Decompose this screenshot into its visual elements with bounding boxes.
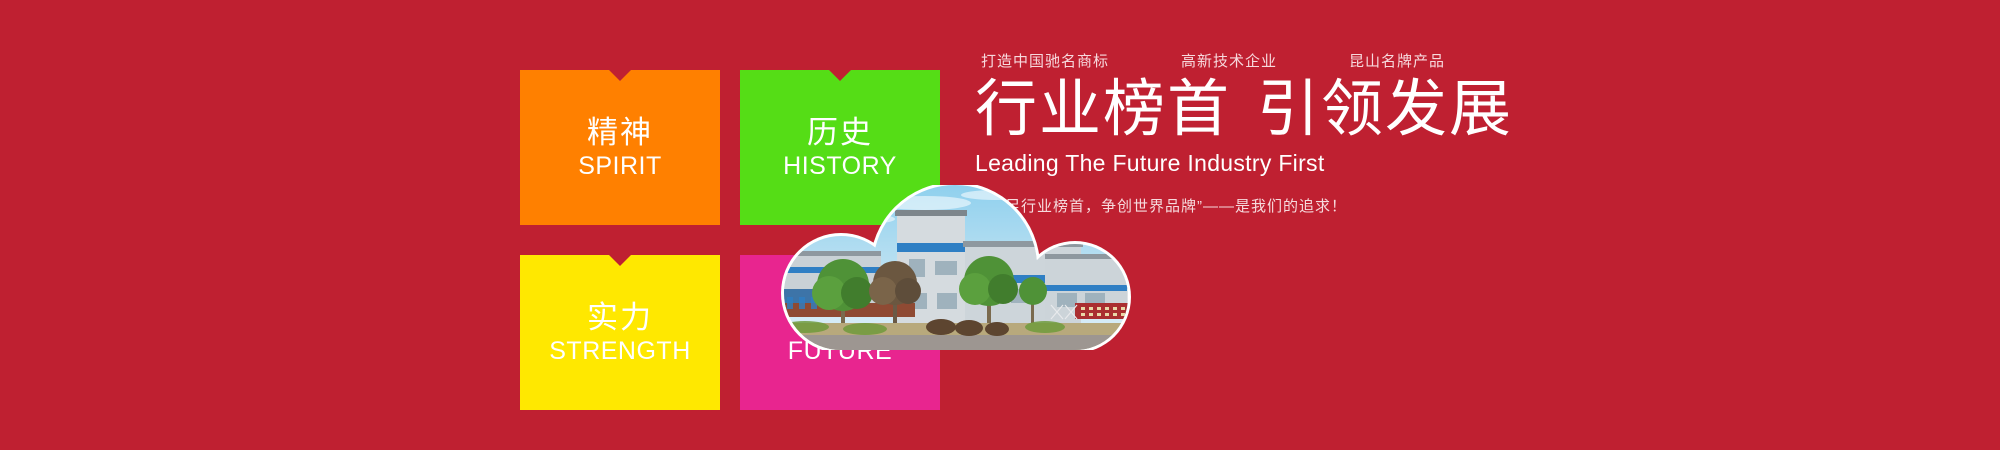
tile-strength[interactable]: 实力 STRENGTH xyxy=(520,255,720,410)
tile-spirit-label-cn: 精神 xyxy=(587,117,653,148)
headline-part-left: 行业榜首 xyxy=(975,75,1231,144)
promo-banner: 精神 SPIRIT 历史 HISTORY 实力 STRENGTH 未来 FUTU… xyxy=(0,0,2000,450)
tile-spirit-label-en: SPIRIT xyxy=(578,154,662,179)
subtitle-english: Leading The Future Industry First xyxy=(975,150,1975,177)
headline-part-right: 引领发展 xyxy=(1257,75,1513,144)
tile-history-label-cn: 历史 xyxy=(807,117,873,148)
tagline-1: 打造中国驰名商标 xyxy=(981,50,1109,71)
notch-icon xyxy=(829,70,851,81)
tile-strength-label-en: STRENGTH xyxy=(549,339,691,364)
page-title: 行业榜首引领发展 xyxy=(975,77,1975,142)
tile-spirit[interactable]: 精神 SPIRIT xyxy=(520,70,720,225)
building-right xyxy=(1045,245,1165,319)
photo-content xyxy=(745,185,1175,350)
tagline-row: 打造中国驰名商标 高新技术企业 昆山名牌产品 xyxy=(975,50,1975,71)
cloud-photo-svg xyxy=(745,185,1175,350)
factory-photo-montage xyxy=(745,185,1175,350)
tile-history-label-en: HISTORY xyxy=(783,154,897,179)
tagline-2: 高新技术企业 xyxy=(1181,50,1277,71)
tagline-3: 昆山名牌产品 xyxy=(1349,50,1445,71)
notch-icon xyxy=(609,70,631,81)
tile-strength-label-cn: 实力 xyxy=(587,302,653,333)
notch-icon xyxy=(609,255,631,266)
